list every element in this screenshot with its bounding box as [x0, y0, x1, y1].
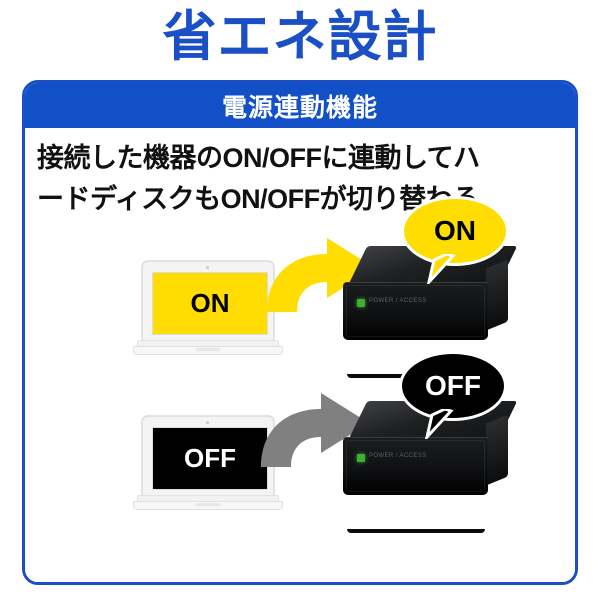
- hdd-power-led-icon: [357, 454, 365, 462]
- laptop-lid: OFF: [141, 415, 275, 497]
- hdd-side-face: [486, 415, 508, 486]
- feature-card: 電源連動機能 接続した機器のON/OFFに連動してハ ードディスクもON/OFF…: [22, 80, 578, 585]
- speech-bubble-tail: [427, 254, 457, 284]
- hdd-power-led-icon: [357, 299, 365, 307]
- hdd-front-face: POWER / ACCESS: [343, 282, 488, 340]
- feature-card-header: 電源連動機能: [25, 83, 575, 128]
- speech-bubble-off: OFF: [399, 351, 507, 421]
- speech-bubble-on: ON: [401, 196, 509, 266]
- laptop-screen-off: OFF: [152, 427, 268, 490]
- scene-off: OFF: [25, 383, 575, 553]
- feature-description-line-1: 接続した機器のON/OFFに連動してハ: [37, 138, 567, 179]
- speech-bubble-label: OFF: [425, 370, 481, 402]
- hdd-foot: [347, 529, 485, 533]
- bubble-tail-icon: [427, 254, 457, 284]
- feature-card-header-label: 電源連動機能: [222, 88, 378, 124]
- feature-card-body: 接続した機器のON/OFFに連動してハ ードディスクもON/OFFが切り替わる …: [25, 128, 575, 585]
- laptop-camera-icon: [206, 266, 209, 269]
- page-title: 省エネ設計: [0, 6, 600, 68]
- speech-bubble-tail: [425, 409, 455, 439]
- laptop-trackpad-notch: [196, 348, 220, 351]
- laptop-screen-on: ON: [152, 272, 268, 335]
- hdd-front-face: POWER / ACCESS: [343, 437, 488, 495]
- laptop-screen-label: ON: [191, 288, 230, 319]
- laptop-screen-label: OFF: [184, 443, 236, 474]
- hdd-side-face: [486, 260, 508, 331]
- laptop-lid: ON: [141, 260, 275, 342]
- laptop-camera-icon: [206, 421, 209, 424]
- laptop-on: ON: [133, 260, 283, 360]
- speech-bubble-label: ON: [434, 215, 476, 247]
- hdd-bezel: [346, 440, 485, 492]
- hdd-led-label: POWER / ACCESS: [369, 453, 427, 459]
- hdd-bezel: [346, 285, 485, 337]
- laptop-trackpad-notch: [196, 503, 220, 506]
- hdd-led-label: POWER / ACCESS: [369, 298, 427, 304]
- bubble-tail-icon: [425, 409, 455, 439]
- infographic-root: 省エネ設計 電源連動機能 接続した機器のON/OFFに連動してハ ードディスクも…: [0, 0, 600, 600]
